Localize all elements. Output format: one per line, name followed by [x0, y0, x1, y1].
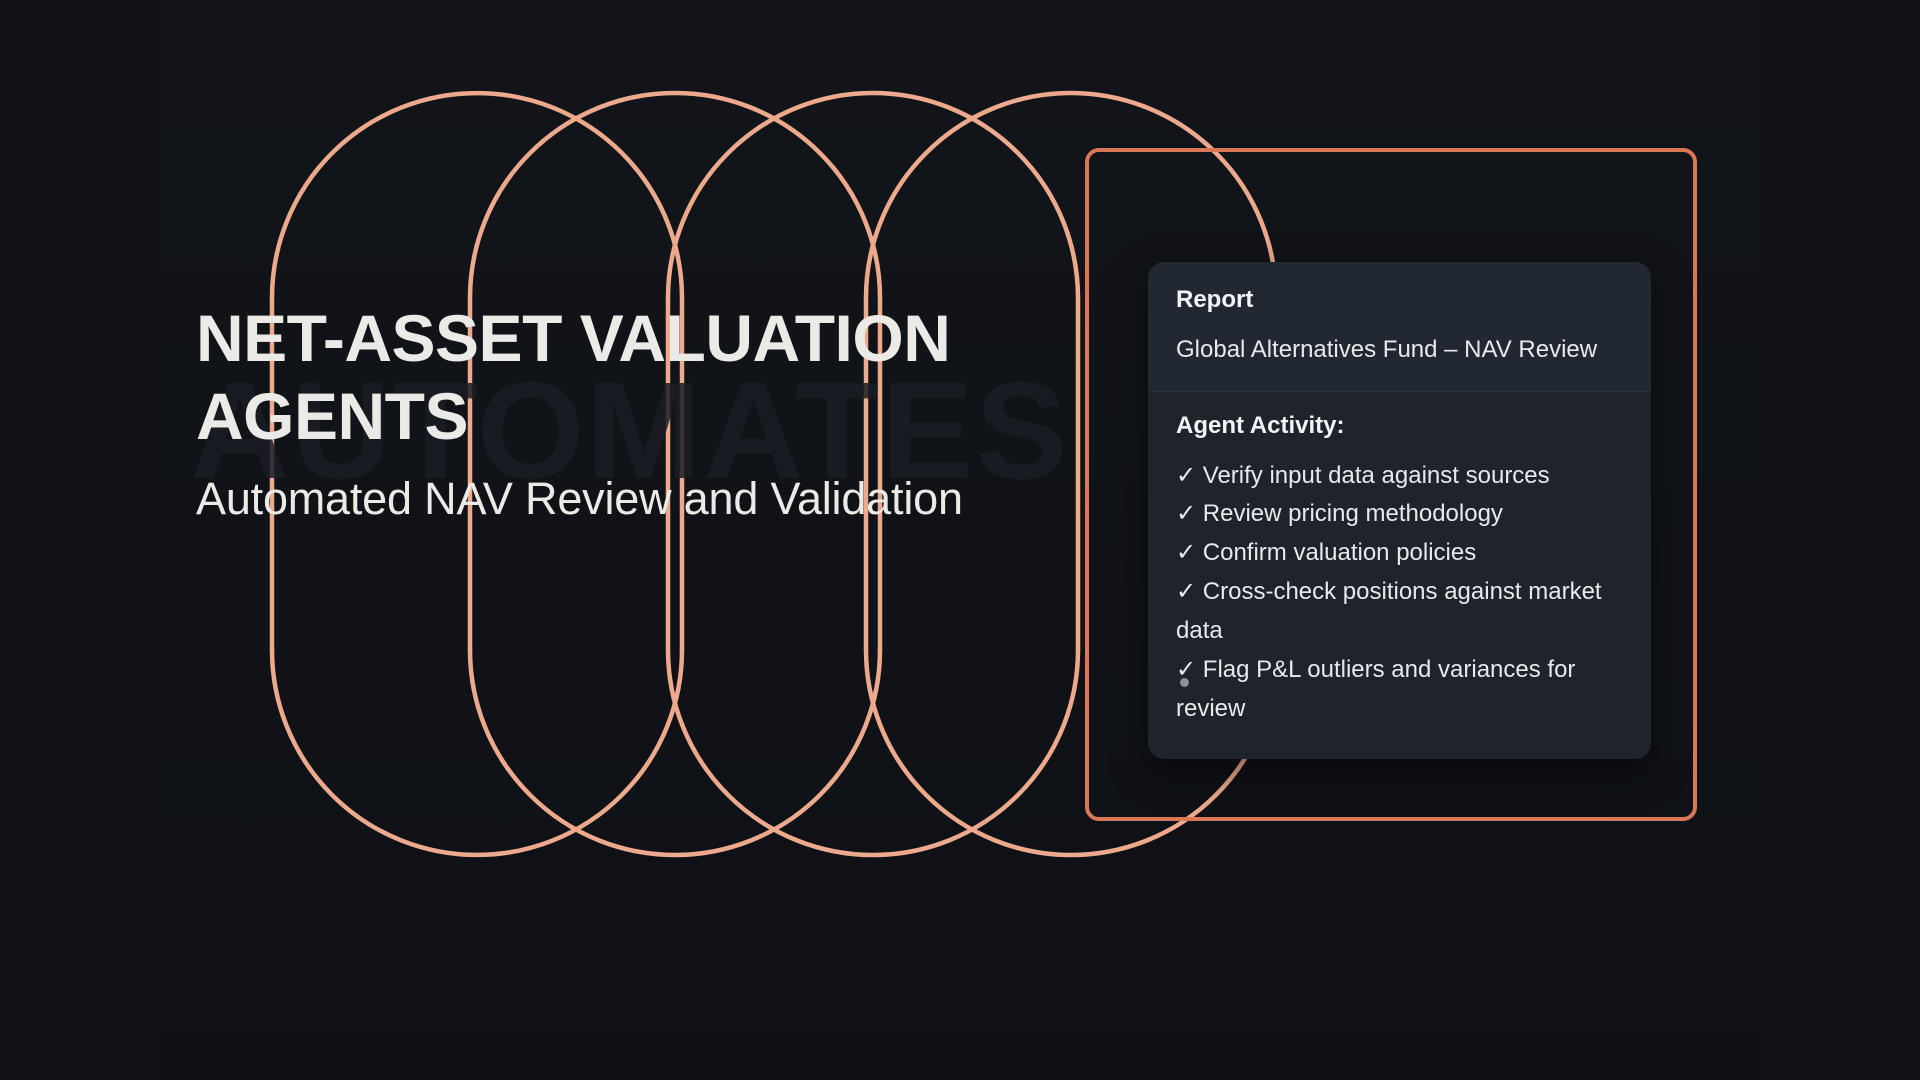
agent-activity-section: Agent Activity: ✓ Verify input data agai…	[1148, 391, 1651, 759]
activity-item-label: Confirm valuation policies	[1196, 539, 1476, 566]
activity-item: ✓ Flag P&L outliers and variances for re…	[1176, 651, 1623, 729]
arc-top-2	[470, 93, 880, 298]
hero-text-block: NET-ASSET VALUATION AGENTS Automated NAV…	[196, 300, 1076, 527]
activity-item: ✓ Verify input data against sources	[1176, 457, 1623, 496]
arc-bottom-1	[272, 650, 682, 855]
agent-activity-title: Agent Activity:	[1176, 412, 1623, 441]
agent-activity-list: ✓ Verify input data against sources✓ Rev…	[1176, 457, 1623, 729]
activity-item: ✓ Review pricing methodology	[1176, 495, 1623, 534]
arc-top-1	[272, 93, 682, 298]
activity-item: ✓ Confirm valuation policies	[1176, 534, 1623, 573]
activity-item-label: Cross-check positions against market dat…	[1176, 578, 1602, 644]
page-subtitle: Automated NAV Review and Validation	[196, 470, 1076, 528]
check-icon: ✓	[1176, 578, 1196, 605]
check-icon: ✓	[1176, 656, 1196, 683]
report-card[interactable]: Report Global Alternatives Fund – NAV Re…	[1148, 262, 1651, 759]
activity-item: ✓ Cross-check positions against market d…	[1176, 573, 1623, 651]
check-icon: ✓	[1176, 539, 1196, 566]
activity-item-label: Flag P&L outliers and variances for revi…	[1176, 656, 1575, 722]
page-title: NET-ASSET VALUATION AGENTS	[196, 300, 1076, 456]
check-icon: ✓	[1176, 500, 1196, 527]
activity-item-label: Verify input data against sources	[1196, 462, 1550, 489]
slide-canvas: AUTOMATES NET-ASSET VALUATION AGENTS Aut…	[0, 0, 1920, 1080]
arc-bottom-2	[470, 650, 880, 855]
arc-top-3	[668, 93, 1078, 298]
report-header-section: Report Global Alternatives Fund – NAV Re…	[1148, 262, 1651, 391]
check-icon: ✓	[1176, 462, 1196, 489]
activity-item-label: Review pricing methodology	[1196, 500, 1503, 527]
report-name-value: Global Alternatives Fund – NAV Review	[1176, 336, 1623, 365]
report-label: Report	[1176, 288, 1623, 312]
arc-bottom-3	[668, 650, 1078, 855]
